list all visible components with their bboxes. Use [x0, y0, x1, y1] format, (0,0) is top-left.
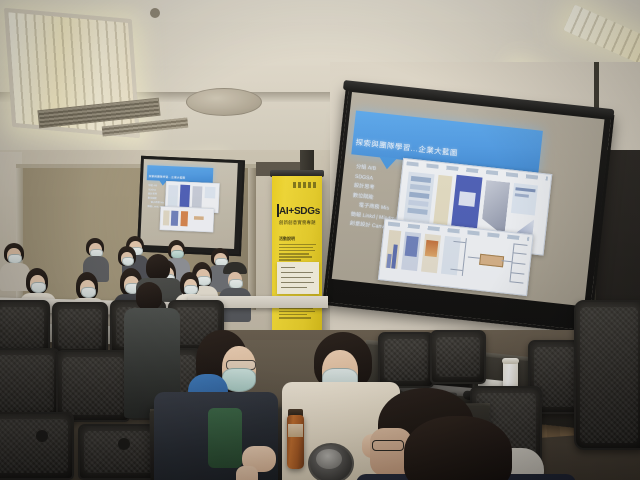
sprinkler-head: [150, 8, 160, 18]
mesh-office-chair[interactable]: [0, 412, 74, 480]
projected-slide-right: 探索與團隊學習…企業大藍圖 分組 AIB SDGSA 設計思考 數位賦能 電子商…: [333, 110, 561, 292]
mesh-office-chair[interactable]: [52, 302, 108, 356]
classroom-photo: 探索與團隊學習…企業大藍圖 分組 AIB SDGSA 設計思考 數位賦能 電子商…: [0, 0, 640, 480]
green-scarf: [208, 408, 242, 468]
projected-slide-left: 探索與團隊學習…企業大藍圖 分組 AIB SDGSA 設計思考 數位賦能 電子商…: [144, 165, 186, 201]
eyeglasses: [372, 440, 404, 451]
mesh-office-chair[interactable]: [430, 330, 486, 384]
banner-info-card: [277, 262, 319, 294]
mesh-office-chair[interactable]: [574, 300, 640, 450]
banner-section: 活動說明: [279, 236, 316, 263]
banner-title: AI+SDGs: [279, 206, 320, 217]
slide-screenshot-mindmap: [160, 206, 215, 232]
banner-subtitle: 創新創意實務專題: [279, 220, 316, 226]
chair-caster: [118, 438, 130, 450]
hands: [236, 466, 258, 480]
projection-screen-left: 探索與團隊學習…企業大藍圖 分組 AIB SDGSA 設計思考 數位賦能 電子商…: [140, 159, 238, 249]
tumbler-opening: [316, 449, 342, 469]
ceiling-speaker: [186, 88, 262, 116]
projection-screen-right: 探索與團隊學習…企業大藍圖 分組 AIB SDGSA 設計思考 數位賦能 電子商…: [332, 92, 605, 306]
banner-logo-icon: [293, 182, 317, 188]
cup-lid: [502, 358, 519, 364]
banner-section-heading: 活動說明: [279, 236, 316, 242]
mesh-office-chair[interactable]: [0, 348, 60, 420]
mesh-office-chair[interactable]: [378, 332, 434, 388]
pillar-edge: [248, 168, 256, 310]
chair-caster: [36, 430, 48, 442]
bottle-label: [288, 424, 303, 437]
